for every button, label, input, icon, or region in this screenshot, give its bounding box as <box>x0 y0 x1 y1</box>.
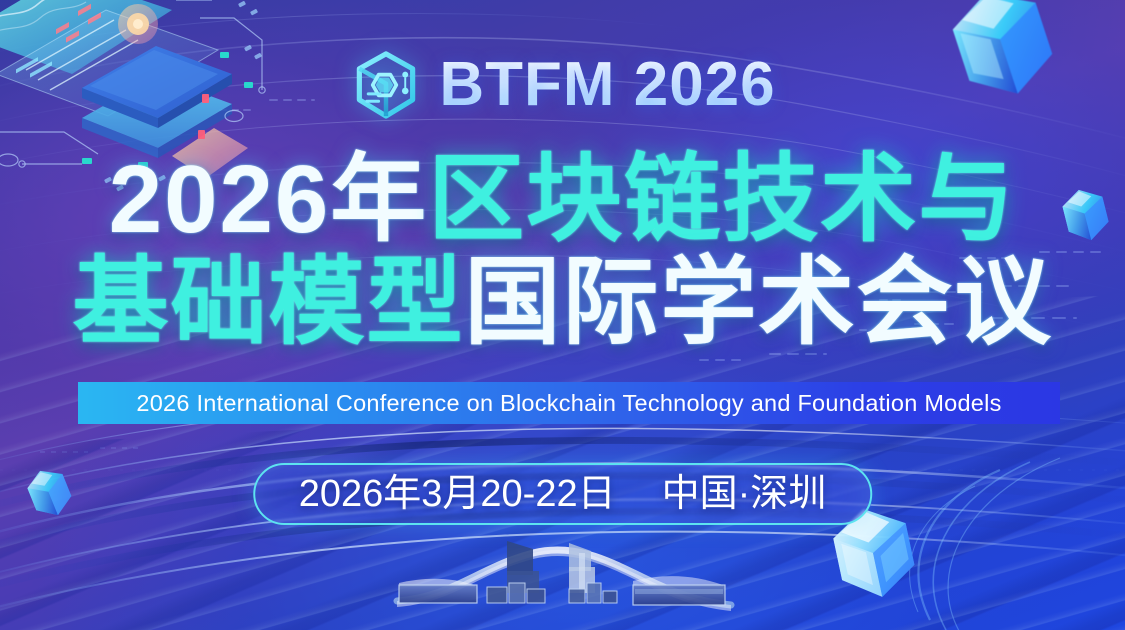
conference-banner: BTFM 2026 2026年区块链技术与 基础模型国际学术会议 2026 In… <box>0 0 1125 630</box>
conference-date: 2026年3月20-22日 <box>299 475 616 513</box>
title-keyword-blockchain: 区块链技术与 <box>428 146 1016 253</box>
title-year: 2026年 <box>109 146 429 253</box>
english-subtitle-bar: 2026 International Conference on Blockch… <box>78 382 1060 424</box>
conference-location: 中国·深圳 <box>662 475 827 513</box>
banner-content: BTFM 2026 2026年区块链技术与 基础模型国际学术会议 2026 In… <box>0 0 1125 630</box>
title-conference: 国际学术会议 <box>465 249 1053 356</box>
title-line-2: 基础模型国际学术会议 <box>0 255 1125 351</box>
date-location-pill: 2026年3月20-22日 中国·深圳 <box>253 463 873 525</box>
logo-row: BTFM 2026 <box>0 48 1125 122</box>
logo-text: BTFM 2026 <box>439 54 775 116</box>
hexagon-blockchain-cube-icon <box>349 48 423 122</box>
title-line-1: 2026年区块链技术与 <box>0 152 1125 248</box>
english-subtitle-text: 2026 International Conference on Blockch… <box>136 390 1001 417</box>
title-keyword-foundation-models: 基础模型 <box>73 249 465 356</box>
